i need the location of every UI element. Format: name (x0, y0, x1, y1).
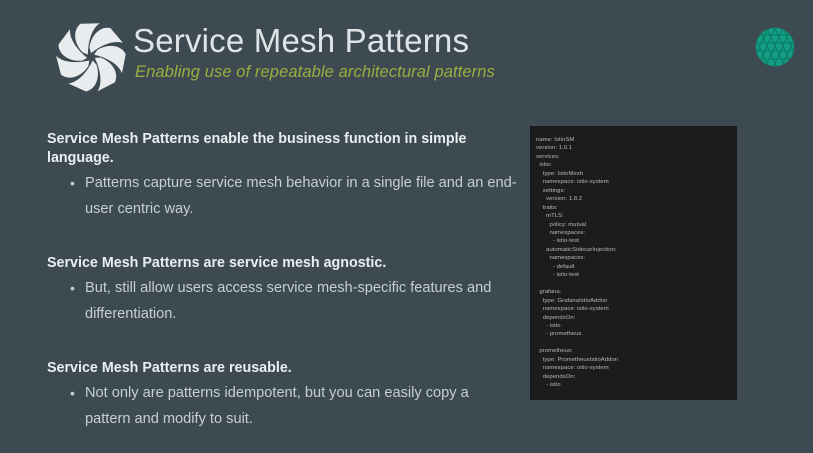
bullet-point-icon: • (70, 275, 75, 301)
block-heading: Service Mesh Patterns are service mesh a… (47, 254, 517, 273)
content-block: Service Mesh Patterns are service mesh a… (47, 254, 517, 327)
list-item: • Not only are patterns idempotent, but … (47, 380, 517, 432)
content-block: Service Mesh Patterns are reusable. • No… (47, 359, 517, 432)
yaml-code-content: name: IstioSM version: 1.0.1 services: i… (530, 126, 737, 390)
page-subtitle: Enabling use of repeatable architectural… (135, 64, 495, 81)
bullet-point-icon: • (70, 380, 75, 406)
list-item: • Patterns capture service mesh behavior… (47, 170, 517, 222)
block-heading: Service Mesh Patterns are reusable. (47, 359, 517, 378)
page-title: Service Mesh Patterns (133, 24, 469, 57)
list-item-label: Patterns capture service mesh behavior i… (85, 175, 517, 217)
spacer (47, 340, 517, 359)
slide: Service Mesh Patterns Enabling use of re… (0, 0, 813, 453)
list-item-label: Not only are patterns idempotent, but yo… (85, 385, 469, 427)
bullet-point-icon: • (70, 170, 75, 196)
yaml-code-panel: name: IstioSM version: 1.0.1 services: i… (530, 126, 737, 400)
meshery-pinwheel-logo (52, 18, 130, 96)
block-heading: Service Mesh Patterns enable the busines… (47, 130, 517, 168)
list-item: • But, still allow users access service … (47, 275, 517, 327)
content-block: Service Mesh Patterns enable the busines… (47, 130, 517, 222)
list-item-label: But, still allow users access service me… (85, 280, 491, 322)
slide-header: Service Mesh Patterns Enabling use of re… (0, 0, 813, 100)
service-mesh-sphere-icon (750, 22, 800, 72)
spacer (47, 235, 517, 254)
content-column: Service Mesh Patterns enable the busines… (47, 130, 517, 432)
